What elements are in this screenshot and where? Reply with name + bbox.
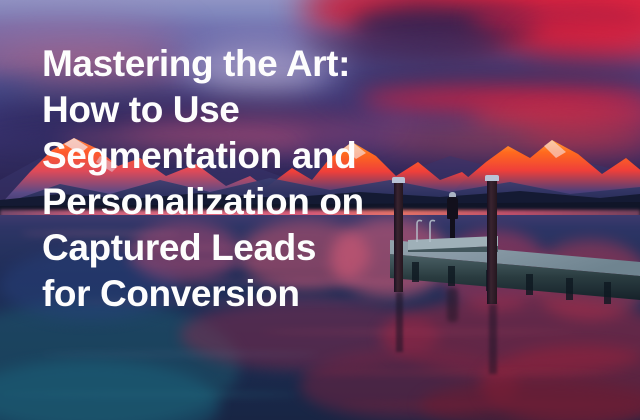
dock-post-left — [394, 180, 403, 292]
dock-post-right — [487, 178, 497, 304]
person-legs — [450, 218, 455, 238]
dock-ladder — [414, 218, 440, 242]
standing-person — [446, 192, 459, 238]
dock-post-left-cap — [392, 177, 405, 183]
person-coat — [447, 197, 458, 219]
dock-post-right-cap — [485, 175, 499, 181]
person-reflection — [447, 288, 458, 322]
page-title: Mastering the Art: How to Use Segmentati… — [42, 41, 372, 317]
hero-banner: Mastering the Art: How to Use Segmentati… — [0, 0, 640, 420]
